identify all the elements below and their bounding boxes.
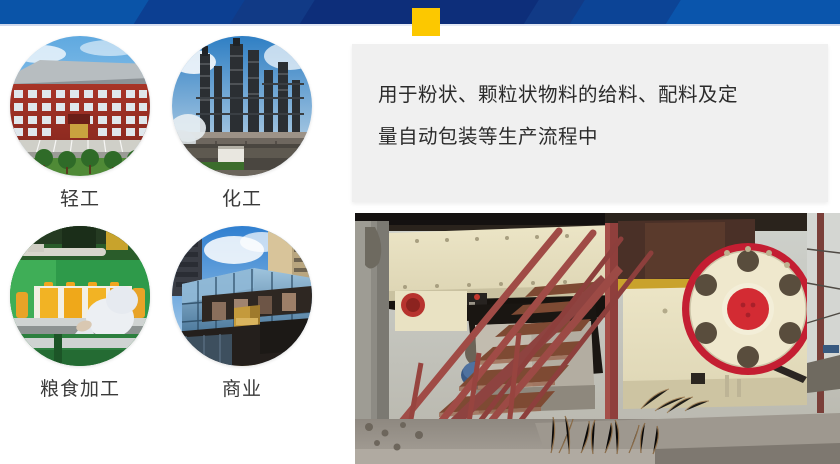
application-item-label: 化工 — [162, 190, 322, 209]
description-line-1: 用于粉状、颗粒状物料的给料、配料及定 — [378, 74, 802, 116]
jaw-crusher-site-photo — [355, 213, 840, 464]
description-line-2: 量自动包装等生产流程中 — [378, 116, 802, 158]
banner-diagonal-band-right-1 — [660, 0, 840, 24]
application-item-label: 粮食加工 — [0, 380, 160, 399]
yellow-accent-tab — [412, 8, 440, 36]
chemical-plant-photo-icon — [172, 36, 312, 176]
application-item-grain-processing[interactable]: 粮食加工 — [0, 226, 160, 399]
application-item-chemical[interactable]: 化工 — [162, 36, 322, 209]
application-item-commerce[interactable]: 商业 — [162, 226, 322, 399]
application-item-label: 轻工 — [0, 190, 160, 209]
application-circle-grid: 轻工 — [0, 36, 345, 456]
commercial-building-photo-icon — [172, 226, 312, 366]
light-industry-building-photo-icon — [10, 36, 150, 176]
description-panel: 用于粉状、颗粒状物料的给料、配料及定 量自动包装等生产流程中 — [352, 44, 828, 202]
application-item-light-industry[interactable]: 轻工 — [0, 36, 160, 209]
grain-processing-photo-icon — [10, 226, 150, 366]
application-item-label: 商业 — [162, 380, 322, 399]
